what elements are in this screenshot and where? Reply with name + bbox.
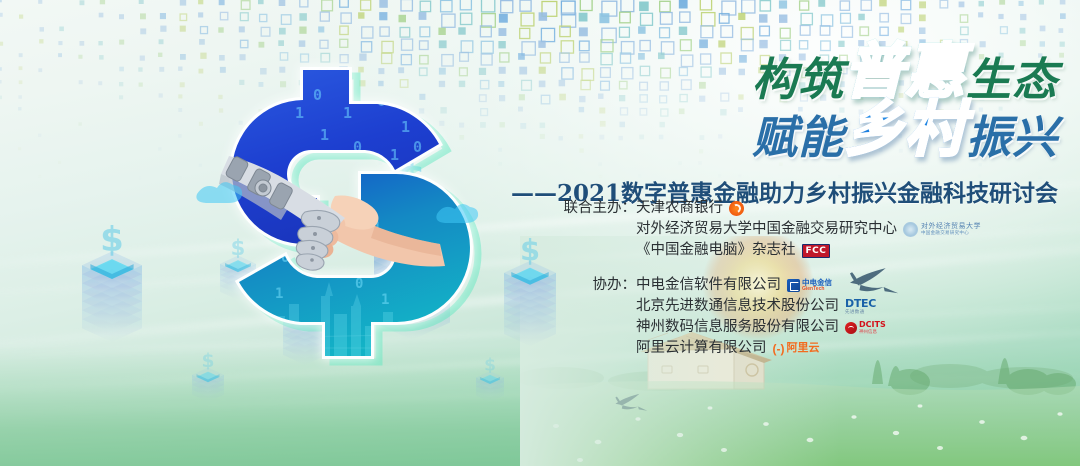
- dtec-logo-en: DTEC: [845, 298, 876, 309]
- dcits-swoosh-icon: [845, 322, 857, 334]
- coorganizer-row: 阿里云计算有限公司 (-) 阿里云: [636, 338, 980, 359]
- organizer-name: 《中国金融电脑》杂志社: [636, 240, 796, 261]
- title-part-shengtai: 生态: [966, 54, 1058, 105]
- aliyun-logo: (-) 阿里云: [773, 343, 820, 355]
- title-part-funeng: 赋能: [752, 112, 844, 163]
- organizer-row: 天津农商银行: [636, 198, 981, 219]
- swallow-bird-secondary-icon: [614, 390, 648, 416]
- svg-text:1: 1: [343, 104, 352, 122]
- organizer-row: 对外经济贸易大学中国金融交易研究中心 对外经济贸易大学 中国金融交易研究中心: [636, 219, 981, 240]
- coorganizer-row: 神州数码信息服务股份有限公司 DCITS 神州信息: [636, 317, 980, 338]
- svg-text:1: 1: [275, 286, 283, 302]
- coorganizer-name: 阿里云计算有限公司: [636, 338, 767, 359]
- title-part-gouzhu: 构筑: [752, 54, 844, 105]
- svg-text:1: 1: [320, 126, 329, 144]
- svg-text:$: $: [100, 220, 124, 260]
- svg-text:0: 0: [355, 276, 363, 292]
- conference-banner: $$$$$$$: [0, 0, 1080, 466]
- title-line-1: 构筑普惠生态: [438, 42, 1058, 102]
- fcc-logo-text: FCC: [802, 244, 831, 258]
- svg-text:1: 1: [381, 292, 389, 308]
- organizers-group: 联合主办： 天津农商银行 对外经济贸易大学中国金融交易研究中心 对外经济贸易大学…: [560, 198, 980, 261]
- coorganizer-name: 北京先进数通信息技术股份公司: [636, 296, 839, 317]
- dtec-logo-cn: 先进数通: [845, 310, 865, 315]
- coorganizer-row: 中电金信软件有限公司 中电金信 GienTech: [636, 275, 980, 296]
- aliyun-bracket-icon: (-): [773, 343, 785, 355]
- organizer-name: 天津农商银行: [636, 198, 723, 219]
- dcits-logo-cn: 神州信息: [859, 330, 886, 335]
- title-part-xiangcun: 乡村: [844, 96, 966, 163]
- coorganizer-name: 神州数码信息服务股份有限公司: [636, 317, 839, 338]
- title-block: 构筑普惠生态 赋能乡村振兴 ——2021数字普惠金融助力乡村振兴金融科技研讨会: [438, 42, 1058, 208]
- uibe-logo-sub: 中国金融交易研究中心: [921, 231, 981, 236]
- organizer-row: 《中国金融电脑》杂志社 FCC: [636, 240, 981, 261]
- coorganizers-group: 协办： 中电金信软件有限公司 中电金信 GienTech 北京先进数通信息技术股…: [560, 275, 980, 359]
- uibe-logo: 对外经济贸易大学 中国金融交易研究中心: [903, 222, 981, 237]
- organizer-name: 对外经济贸易大学中国金融交易研究中心: [636, 219, 897, 240]
- coorganizers-label: 协办：: [560, 275, 636, 359]
- dtec-logo: DTEC 先进数通: [845, 298, 876, 315]
- title-part-puhui: 普惠: [844, 38, 966, 105]
- svg-text:0: 0: [313, 86, 322, 104]
- svg-text:1: 1: [335, 170, 344, 188]
- svg-text:0: 0: [377, 92, 386, 110]
- tjrcb-logo: [729, 201, 744, 216]
- coorganizer-name: 中电金信软件有限公司: [636, 275, 781, 296]
- aliyun-logo-cn: 阿里云: [787, 343, 820, 354]
- fcc-logo: FCC: [802, 244, 831, 258]
- cetc-mark-icon: [787, 279, 800, 292]
- title-line-2: 赋能乡村振兴: [438, 100, 1058, 160]
- svg-text:1: 1: [390, 146, 399, 164]
- dcits-logo-en: DCITS: [859, 321, 886, 329]
- cetc-jinxin-logo: 中电金信 GienTech: [787, 279, 832, 293]
- svg-text:1: 1: [401, 118, 410, 136]
- coorganizer-row: 北京先进数通信息技术股份公司 DTEC 先进数通: [636, 296, 980, 317]
- uibe-seal-icon: [903, 222, 918, 237]
- svg-text:0: 0: [413, 138, 422, 156]
- svg-text:1: 1: [295, 104, 304, 122]
- dcits-logo: DCITS 神州信息: [845, 321, 886, 335]
- cetc-logo-en: GienTech: [802, 287, 832, 292]
- cetc-logo-cn: 中电金信: [802, 279, 832, 287]
- title-part-zhenxing: 振兴: [966, 112, 1058, 163]
- organizer-info: 联合主办： 天津农商银行 对外经济贸易大学中国金融交易研究中心 对外经济贸易大学…: [560, 198, 980, 373]
- organizers-label: 联合主办：: [560, 198, 636, 261]
